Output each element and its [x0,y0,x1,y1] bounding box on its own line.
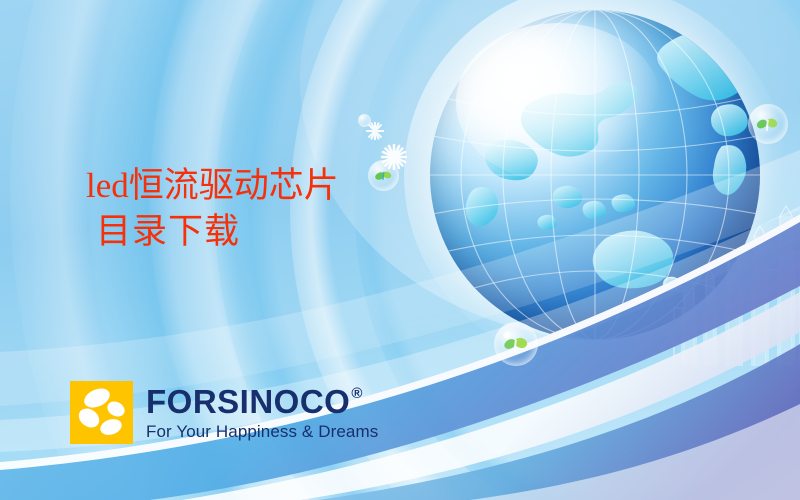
headline-line-2: 目录下载 [86,209,339,255]
leaf-sprout-icon [368,160,399,191]
promo-banner: led恒流驱动芯片 目录下载 FORSINOCO ® For Your Happ… [0,0,800,500]
bubble-with-leaf-icon [748,104,788,144]
brand-tagline: For Your Happiness & Dreams [146,423,378,440]
bubble-icon [358,114,371,127]
leaf-sprout-icon [494,322,538,366]
leaf-sprout-icon [748,104,788,144]
four-petal-pinwheel-icon [70,381,133,444]
brand-logo: FORSINOCO ® For Your Happiness & Dreams [70,381,378,444]
headline: led恒流驱动芯片 目录下载 [86,163,339,254]
logo-text-block: FORSINOCO ® For Your Happiness & Dreams [146,385,378,440]
bubble-with-leaf-icon [494,322,538,366]
brand-name: FORSINOCO [146,385,350,418]
brand-wordmark: FORSINOCO ® [146,385,378,418]
bubble-with-leaf-icon [368,160,399,191]
registered-trademark-icon: ® [351,386,363,401]
headline-line-1: led恒流驱动芯片 [86,163,339,209]
